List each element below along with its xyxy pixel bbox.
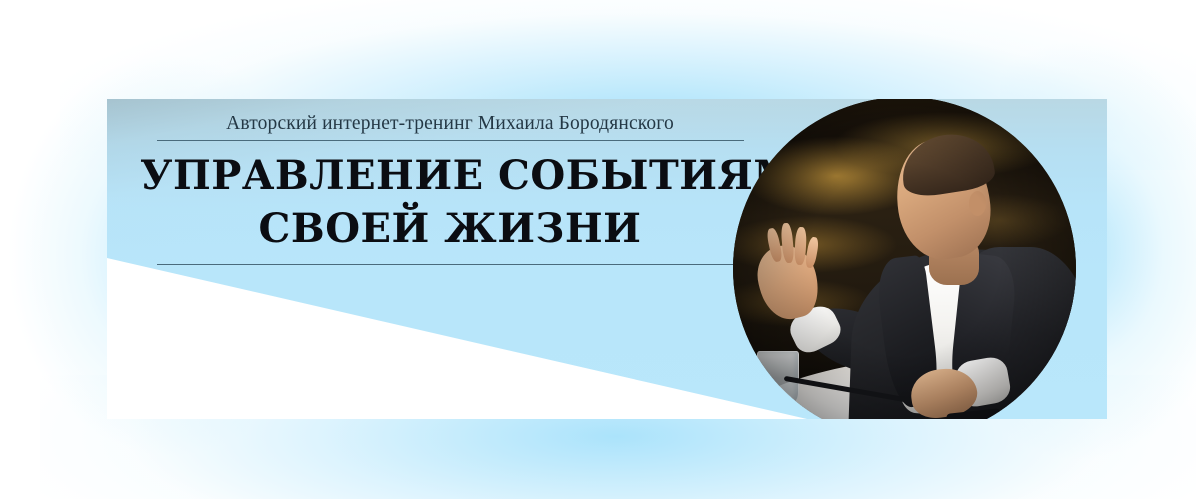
page-title-line-1: УПРАВЛЕНИЕ СОБЫТИЯМИ — [140, 152, 836, 199]
page-title: УПРАВЛЕНИЕ СОБЫТИЯМИ СВОЕЙ ЖИЗНИ — [140, 141, 760, 255]
page-canvas: Авторский интернет-тренинг Михаила Бород… — [0, 0, 1196, 499]
trainer-portrait-photo — [733, 99, 1076, 419]
divider-bottom — [157, 264, 744, 265]
banner-text-block: Авторский интернет-тренинг Михаила Бород… — [140, 99, 760, 265]
portrait-vignette — [733, 99, 1076, 419]
page-title-line-2: СВОЕЙ ЖИЗНИ — [140, 202, 760, 255]
banner-subtitle: Авторский интернет-тренинг Михаила Бород… — [140, 99, 760, 140]
portrait-background — [733, 99, 1076, 419]
promo-banner: Авторский интернет-тренинг Михаила Бород… — [107, 99, 1107, 419]
